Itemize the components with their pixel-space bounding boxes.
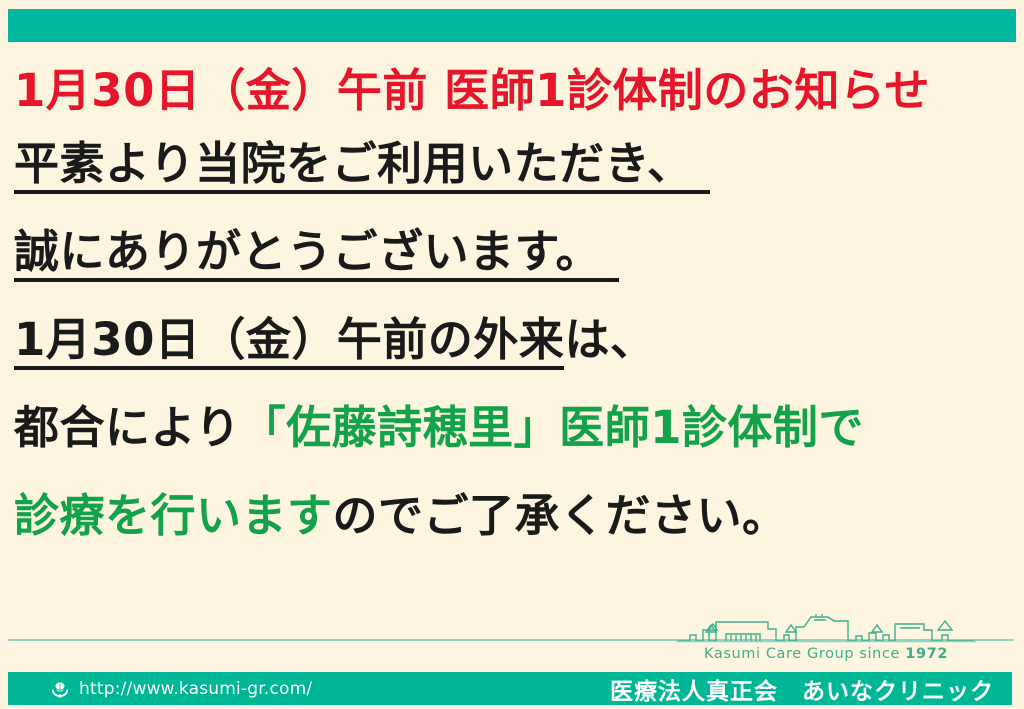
globe-icon xyxy=(50,679,70,699)
announcement-poster: 1月30日（金）午前 医師1診体制のお知らせ 平素より当院をご利用いただき、 誠… xyxy=(0,0,1024,709)
clinic-name: 医療法人真正会 あいなクリニック xyxy=(610,672,994,706)
website-url[interactable]: http://www.kasumi-gr.com/ xyxy=(50,679,312,699)
logo-caption-text: Kasumi Care Group since xyxy=(704,646,905,662)
underlined-text: 1月30日（金）午前の外来 xyxy=(14,317,564,370)
underlined-text: 誠にありがとうございます。 xyxy=(14,229,619,282)
line-tail-text: は、 xyxy=(564,313,655,366)
group-logo: Kasumi Care Group since 1972 xyxy=(676,608,976,662)
text-line-closing: 診療を行いますのでご了承ください。 xyxy=(14,478,1014,566)
text-line-doctor: 都合により「佐藤詩穂里」医師1診体制で xyxy=(14,390,1014,478)
service-highlight: 診療を行います xyxy=(14,489,333,542)
logo-caption: Kasumi Care Group since 1972 xyxy=(676,646,976,662)
footer-bar: http://www.kasumi-gr.com/ 医療法人真正会 あいなクリニ… xyxy=(8,672,1012,705)
closing-text: のでご了承ください。 xyxy=(333,489,788,542)
headline: 1月30日（金）午前 医師1診体制のお知らせ xyxy=(14,56,1014,126)
website-url-text: http://www.kasumi-gr.com/ xyxy=(79,679,312,699)
reason-text: 都合により xyxy=(14,401,241,454)
city-skyline-icon xyxy=(676,608,976,644)
doctor-name-highlight: 「佐藤詩穂里」医師1診体制で xyxy=(241,401,864,454)
text-line-date: 1月30日（金）午前の外来は、 xyxy=(14,302,1014,390)
announcement-body: 1月30日（金）午前 医師1診体制のお知らせ 平素より当院をご利用いただき、 誠… xyxy=(14,56,1014,566)
text-line-greeting-1: 平素より当院をご利用いただき、 xyxy=(14,126,1014,214)
top-accent-bar xyxy=(8,9,1016,42)
underlined-text: 平素より当院をご利用いただき、 xyxy=(14,141,710,194)
logo-caption-year: 1972 xyxy=(905,646,948,662)
text-line-greeting-2: 誠にありがとうございます。 xyxy=(14,214,1014,302)
